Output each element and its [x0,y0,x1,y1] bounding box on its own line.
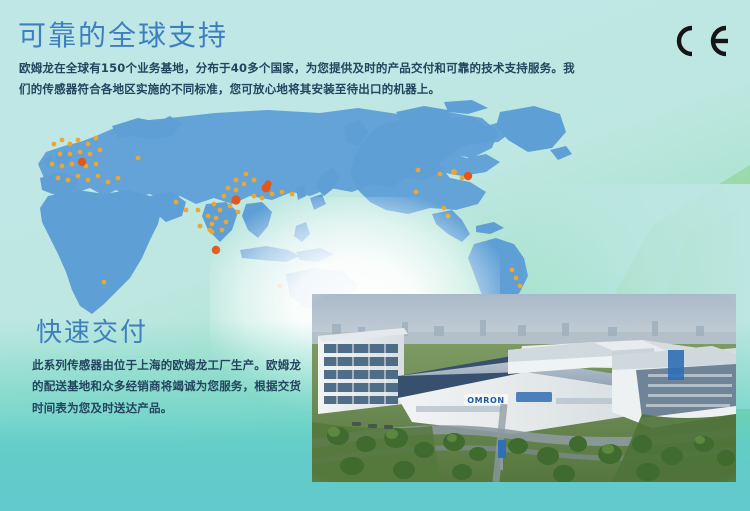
ce-mark-icon [666,24,734,58]
section-heading-global-support: 可靠的全球支持 [18,14,228,54]
section-body-global-support: 欧姆龙在全球有150个业务基地，分布于40多个国家，为您提供及时的产品交付和可靠… [19,58,579,101]
poster-page: 可靠的全球支持 欧姆龙在全球有150个业务基地，分布于40多个国家，为您提供及时… [0,0,750,511]
svg-text:OMRON: OMRON [467,396,504,405]
factory-aerial-photo: OMRON [312,294,736,482]
world-map-graphic [0,92,750,317]
section-body-fast-delivery: 此系列传感器由位于上海的欧姆龙工厂生产。欧姆龙的配送基地和众多经销商将竭诚为您服… [32,355,312,419]
section-heading-fast-delivery: 快速交付 [36,312,148,349]
